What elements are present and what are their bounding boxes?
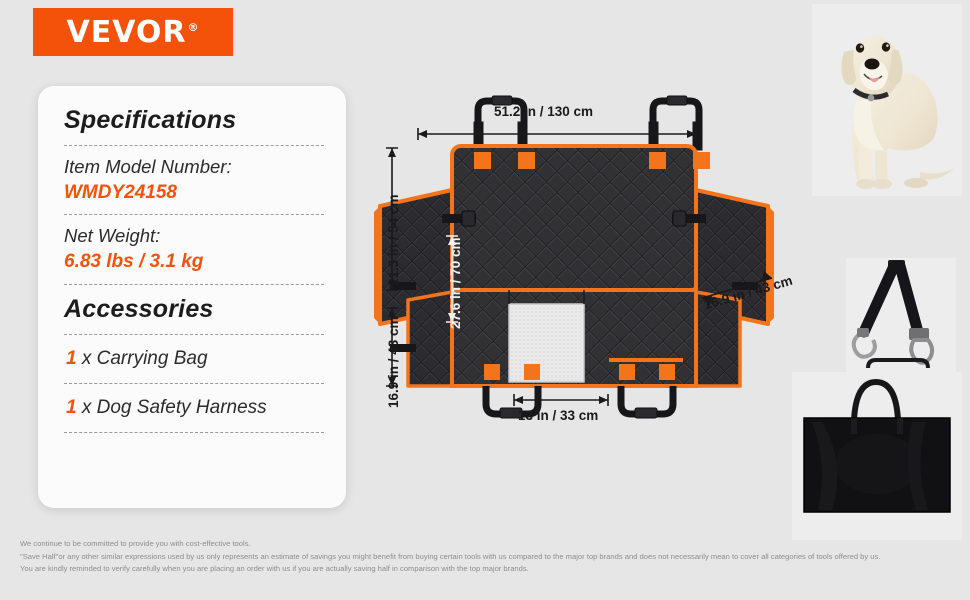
left-flap-lower [408,292,452,386]
product-diagram: 51.2 in / 130 cm 21.3 in / 54 cm 27.6 in… [366,86,786,466]
accessory-label: x Carrying Bag [77,348,208,369]
accessory-item-bag: 1 x Carrying Bag [64,335,324,383]
accessory-qty: 1 [66,397,77,418]
anchor-tab [518,152,535,169]
anchor-tab [693,152,710,169]
vevor-logo: VEVOR® [33,8,233,56]
dimension-bottom-width [514,394,608,406]
brand-name: VEVOR® [66,15,199,50]
divider [64,432,324,433]
dog-photo [812,4,962,196]
footer-line-3: You are kindly reminded to verify carefu… [20,563,950,576]
spec-label: Net Weight: [64,224,324,248]
accessory-label: x Dog Safety Harness [77,397,267,418]
registered-mark: ® [188,21,200,34]
dim-label-bottom-width: 13 in / 33 cm [518,408,598,423]
accessory-qty: 1 [66,348,77,369]
anchor-tab [484,364,500,380]
accessories-title: Accessories [64,295,324,324]
spec-label: Item Model Number: [64,155,324,179]
spec-row-model: Item Model Number: WMDY24158 [64,146,324,214]
product-spec-page: VEVOR® Specifications Item Model Number:… [0,0,970,600]
specifications-title: Specifications [64,106,324,135]
carrying-bag-photo [792,372,962,540]
anchor-tab [619,364,635,380]
footer-disclaimer: We continue to be committed to provide y… [20,538,950,576]
bottom-strap-right [621,386,673,418]
anchor-tab [659,364,675,380]
dim-label-left-height: 21.3 in / 54 cm [386,194,401,286]
harness-photo [846,258,956,376]
zipper-strip [609,358,683,362]
backrest-panel [452,146,710,294]
spec-value: WMDY24158 [64,181,324,206]
specifications-card: Specifications Item Model Number: WMDY24… [38,86,346,508]
spec-value: 6.83 lbs / 3.1 kg [64,250,324,275]
accessory-item-harness: 1 x Dog Safety Harness [64,384,324,432]
mesh-window [509,304,584,382]
spec-row-weight: Net Weight: 6.83 lbs / 3.1 kg [64,215,324,283]
footer-line-1: We continue to be committed to provide y… [20,538,950,551]
footer-line-2: "Save Half"or any other similar expressi… [20,551,950,564]
dim-label-left-flap: 16.9 in / 43 cm [386,316,401,408]
anchor-tab [474,152,491,169]
dim-label-inner-depth: 27.6 in / 70 cm [448,237,463,329]
anchor-tab [649,152,666,169]
dim-label-top-width: 51.2 in / 130 cm [494,104,593,119]
seat-panel [452,290,696,386]
divider [64,284,324,285]
anchor-tab [524,364,540,380]
headrest-strap-right [649,96,702,150]
